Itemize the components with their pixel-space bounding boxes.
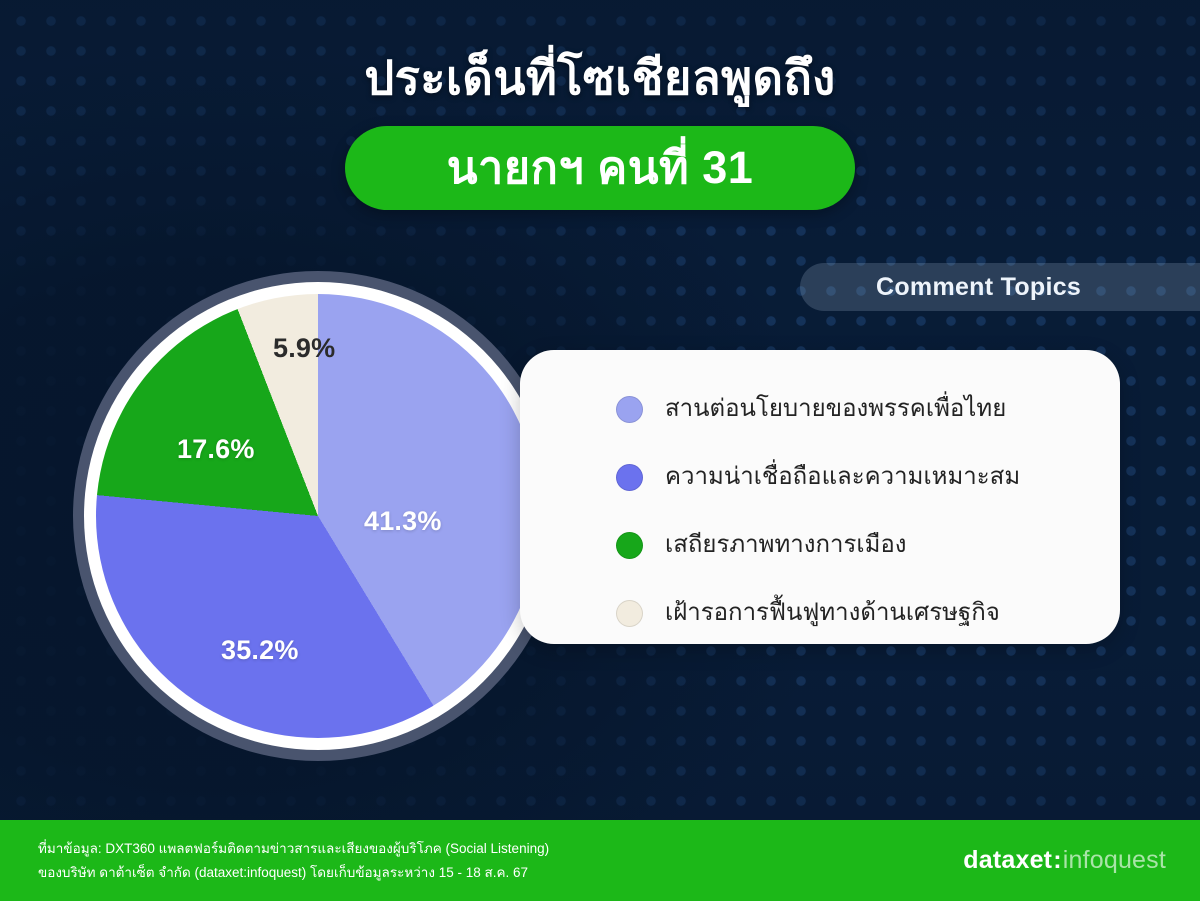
legend-item: เสถียรภาพทางการเมือง xyxy=(616,516,1120,574)
page-title: ประเด็นที่โซเชียลพูดถึง xyxy=(0,0,1200,104)
legend-item: ความน่าเชื่อถือและความเหมาะสม xyxy=(616,448,1120,506)
pie-chart: 41.3% 35.2% 17.6% 5.9% xyxy=(73,271,563,761)
legend-swatch-icon xyxy=(616,396,643,423)
pie-slice-label-2: 17.6% xyxy=(177,434,255,465)
footer-source-line-2: ของบริษัท ดาต้าเซ็ต จำกัด (dataxet:infoq… xyxy=(38,861,549,884)
headline-badge: นายกฯ คนที่ 31 xyxy=(345,126,855,210)
header: ประเด็นที่โซเชียลพูดถึง นายกฯ คนที่ 31 xyxy=(0,0,1200,210)
brand-logo-secondary: infoquest xyxy=(1063,846,1166,874)
pie-slice-label-0: 41.3% xyxy=(364,506,442,537)
footer-source-note: ที่มาข้อมูล: DXT360 แพลตฟอร์มติดตามข่าวส… xyxy=(38,837,549,883)
legend-item-label: เฝ้ารอการฟื้นฟูทางด้านเศรษฐกิจ xyxy=(665,599,1000,628)
footer: ที่มาข้อมูล: DXT360 แพลตฟอร์มติดตามข่าวส… xyxy=(0,820,1200,901)
legend-item-label: เสถียรภาพทางการเมือง xyxy=(665,531,907,560)
legend-swatch-icon xyxy=(616,532,643,559)
legend-swatch-icon xyxy=(616,600,643,627)
comment-topics-band: Comment Topics xyxy=(800,263,1200,311)
pie-slice-label-1: 35.2% xyxy=(221,635,299,666)
legend-swatch-icon xyxy=(616,464,643,491)
footer-source-line-1: ที่มาข้อมูล: DXT360 แพลตฟอร์มติดตามข่าวส… xyxy=(38,837,549,860)
legend-item-label: สานต่อนโยบายของพรรคเพื่อไทย xyxy=(665,395,1006,424)
legend-card: สานต่อนโยบายของพรรคเพื่อไทย ความน่าเชื่อ… xyxy=(520,350,1120,644)
headline-badge-label: นายกฯ คนที่ 31 xyxy=(447,145,754,190)
legend-item: สานต่อนโยบายของพรรคเพื่อไทย xyxy=(616,380,1120,438)
brand-logo: dataxet:infoquest xyxy=(963,846,1166,875)
comment-topics-label: Comment Topics xyxy=(876,273,1081,302)
pie-slice-label-3: 5.9% xyxy=(273,333,335,364)
legend-item-label: ความน่าเชื่อถือและความเหมาะสม xyxy=(665,463,1020,492)
brand-logo-separator: : xyxy=(1052,846,1063,874)
brand-logo-primary: dataxet xyxy=(963,846,1052,874)
legend-item: เฝ้ารอการฟื้นฟูทางด้านเศรษฐกิจ xyxy=(616,584,1120,642)
